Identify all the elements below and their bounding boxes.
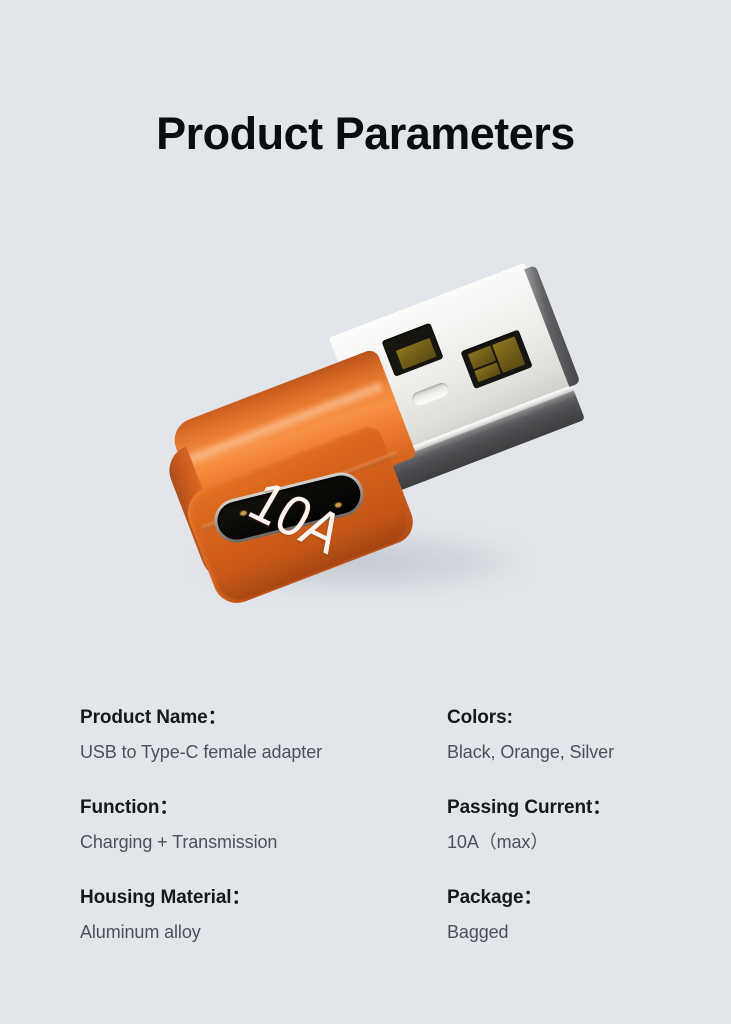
spec-label: Passing Current： [447, 795, 680, 821]
spec-item-colors: Colors: Black, Orange, Silver [447, 705, 680, 764]
spec-item-function: Function： Charging + Transmission [80, 795, 447, 854]
spec-value: Aluminum alloy [80, 920, 447, 944]
spec-label: Function： [80, 795, 447, 821]
spec-item-passing-current: Passing Current： 10A（max） [447, 795, 680, 854]
spec-label: Product Name： [80, 705, 447, 731]
spec-value: 10A（max） [447, 830, 680, 854]
spec-item-housing-material: Housing Material： Aluminum alloy [80, 885, 447, 944]
product-image: 10A [0, 232, 731, 632]
spec-label: Housing Material： [80, 885, 447, 911]
spec-row: Housing Material： Aluminum alloy Package… [80, 885, 680, 944]
spec-value: USB to Type-C female adapter [80, 740, 447, 764]
usb-c-adapter-illustration: 10A [136, 241, 599, 618]
page-title: Product Parameters [0, 110, 731, 157]
spec-item-package: Package： Bagged [447, 885, 680, 944]
spec-value: Black, Orange, Silver [447, 740, 680, 764]
spec-item-product-name: Product Name： USB to Type-C female adapt… [80, 705, 447, 764]
spec-label: Package： [447, 885, 680, 911]
specifications-list: Product Name： USB to Type-C female adapt… [80, 705, 680, 944]
spec-value: Charging + Transmission [80, 830, 447, 854]
spec-row: Function： Charging + Transmission Passin… [80, 795, 680, 854]
spec-value: Bagged [447, 920, 680, 944]
spec-row: Product Name： USB to Type-C female adapt… [80, 705, 680, 764]
spec-label: Colors: [447, 705, 680, 731]
